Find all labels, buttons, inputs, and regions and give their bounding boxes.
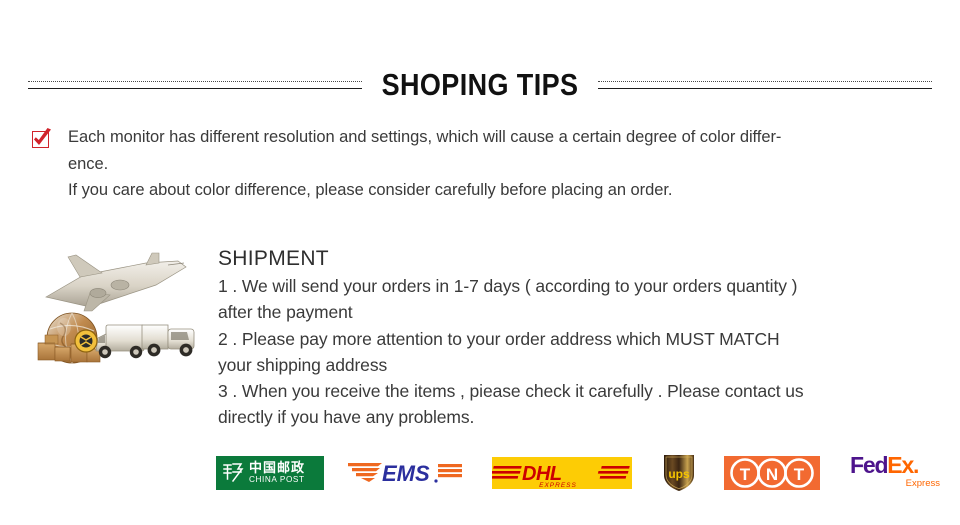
china-post-emblem-icon xyxy=(220,460,246,486)
shipment-line-3: 2 . Please pay more attention to your or… xyxy=(218,326,936,352)
carrier-logo-ups: ups xyxy=(662,453,696,493)
carrier-logo-tnt: T N T xyxy=(724,456,820,490)
color-difference-text: Each monitor has different resolution an… xyxy=(68,124,781,204)
china-post-name-en: CHINA POST xyxy=(249,476,305,484)
shipment-line-1: 1 . We will send your orders in 1-7 days… xyxy=(218,273,936,299)
checkbox-checked-icon xyxy=(30,127,56,153)
page-header: SHOPING TIPS xyxy=(0,62,960,108)
fedex-word-ex: Ex xyxy=(887,452,913,478)
fedex-wordmark: FedEx. xyxy=(850,454,942,477)
notice-line-2: ence. xyxy=(68,151,781,178)
china-post-wordmark: 中国邮政 CHINA POST xyxy=(249,462,305,484)
color-difference-notice: Each monitor has different resolution an… xyxy=(30,124,935,204)
header-rule-left xyxy=(28,81,362,89)
fedex-sub-wordmark: Express xyxy=(850,478,942,489)
carrier-logo-china-post: 中国邮政 CHINA POST xyxy=(216,456,324,490)
tnt-letter-2: N xyxy=(766,465,778,484)
header-rule-left-solid xyxy=(28,88,362,89)
notice-line-1: Each monitor has different resolution an… xyxy=(68,124,781,151)
ems-wordmark: EMS xyxy=(382,461,430,486)
shipment-heading: SHIPMENT xyxy=(218,247,936,271)
shipment-line-4: your shipping address xyxy=(218,352,936,378)
carrier-logos-row: 中国邮政 CHINA POST EMS xyxy=(216,452,946,494)
carrier-logo-dhl: DHL EXPRESS xyxy=(492,457,632,489)
shipment-line-2: after the payment xyxy=(218,299,936,325)
header-rule-right-dotted xyxy=(598,81,932,82)
tnt-letter-3: T xyxy=(794,465,805,484)
header-rule-right-solid xyxy=(598,88,932,89)
fedex-dot: . xyxy=(913,452,918,478)
header-rule-left-dotted xyxy=(28,81,362,82)
notice-line-3: If you care about color difference, plea… xyxy=(68,177,781,204)
carrier-logo-ems: EMS xyxy=(346,456,464,490)
ups-wordmark: ups xyxy=(668,467,690,481)
shipment-section: SHIPMENT 1 . We will send your orders in… xyxy=(24,243,936,431)
shipment-details: 1 . We will send your orders in 1-7 days… xyxy=(218,273,936,431)
shipment-line-6: directly if you have any problems. xyxy=(218,404,936,430)
header-rule-right xyxy=(598,81,932,89)
shipment-text-block: SHIPMENT 1 . We will send your orders in… xyxy=(218,243,936,431)
shipping-logistics-illustration xyxy=(24,243,204,383)
china-post-name-cn: 中国邮政 xyxy=(249,462,305,475)
dhl-sub-wordmark: EXPRESS xyxy=(539,482,577,489)
page-title: SHOPING TIPS xyxy=(362,68,599,103)
fedex-word-fed: Fed xyxy=(850,452,887,478)
carrier-logo-fedex: FedEx. Express xyxy=(850,454,942,492)
shipment-line-5: 3 . When you receive the items , piease … xyxy=(218,378,936,404)
tnt-letter-1: T xyxy=(740,465,751,484)
